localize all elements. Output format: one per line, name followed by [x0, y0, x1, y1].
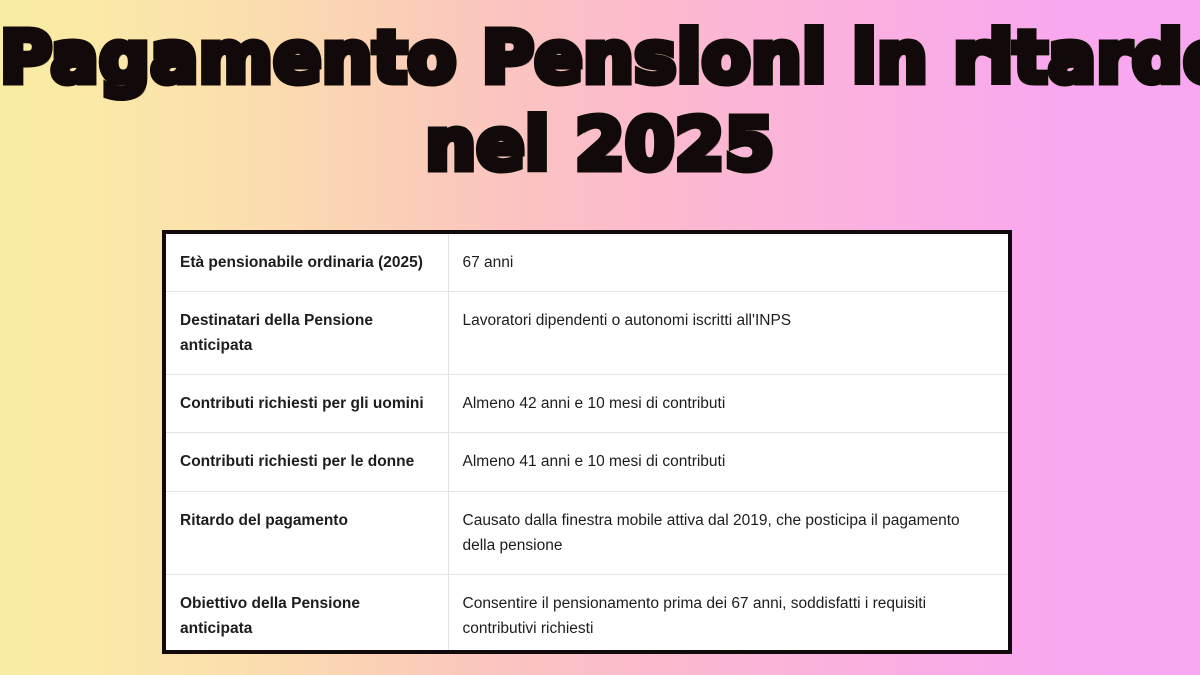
pension-info-table: Età pensionabile ordinaria (2025) 67 ann… [166, 234, 1008, 654]
row-label: Ritardo del pagamento [166, 491, 448, 574]
row-value: Causato dalla finestra mobile attiva dal… [448, 491, 1008, 574]
row-label: Contributi richiesti per le donne [166, 433, 448, 491]
table-body: Età pensionabile ordinaria (2025) 67 ann… [166, 234, 1008, 654]
row-value: Almeno 42 anni e 10 mesi di contributi [448, 375, 1008, 433]
table-row: Contributi richiesti per gli uomini Alme… [166, 375, 1008, 433]
row-value: Almeno 41 anni e 10 mesi di contributi [448, 433, 1008, 491]
table-row: Destinatari della Pensione anticipata La… [166, 292, 1008, 375]
title-line-2: nel 2025 [0, 99, 1200, 194]
row-label: Obiettivo della Pensione anticipata [166, 574, 448, 654]
row-value: 67 anni [448, 234, 1008, 292]
pension-info-table-container: Età pensionabile ordinaria (2025) 67 ann… [162, 230, 1012, 654]
table-row: Età pensionabile ordinaria (2025) 67 ann… [166, 234, 1008, 292]
row-label: Contributi richiesti per gli uomini [166, 375, 448, 433]
row-label: Destinatari della Pensione anticipata [166, 292, 448, 375]
poster-title: Pagamento Pensioni in ritardo nel 2025 [0, 8, 1200, 194]
poster-canvas: Pagamento Pensioni in ritardo nel 2025 E… [0, 0, 1200, 675]
row-value: Consentire il pensionamento prima dei 67… [448, 574, 1008, 654]
row-value: Lavoratori dipendenti o autonomi iscritt… [448, 292, 1008, 375]
table-row: Contributi richiesti per le donne Almeno… [166, 433, 1008, 491]
row-label: Età pensionabile ordinaria (2025) [166, 234, 448, 292]
table-row: Obiettivo della Pensione anticipata Cons… [166, 574, 1008, 654]
table-row: Ritardo del pagamento Causato dalla fine… [166, 491, 1008, 574]
title-line-1: Pagamento Pensioni in ritardo [0, 8, 1200, 99]
